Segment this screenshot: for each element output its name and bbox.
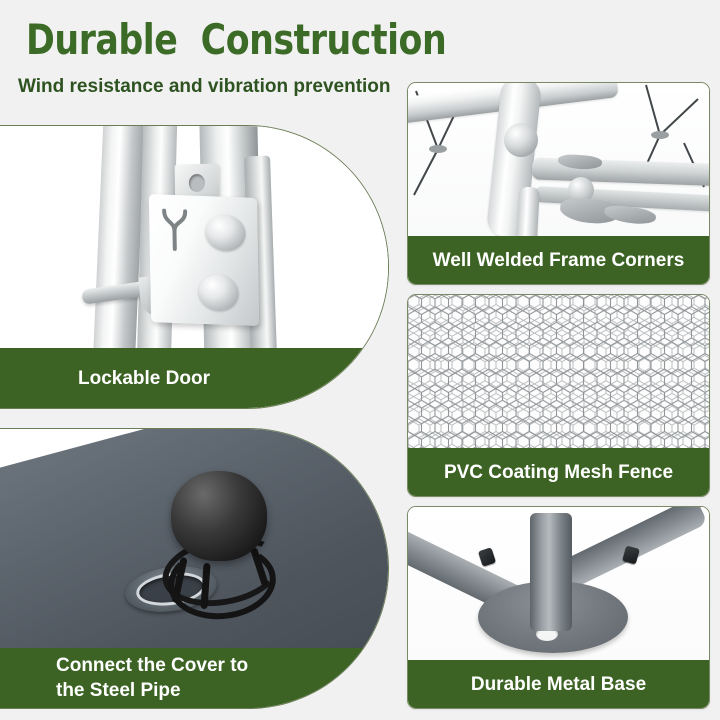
page-subtitle: Wind resistance and vibration prevention <box>18 75 391 99</box>
panel-metal-base: Durable Metal Base <box>407 506 710 709</box>
panel-connect-cover: Connect the Cover to the Steel Pipe <box>0 428 389 709</box>
mesh-fence-label-bar: PVC Coating Mesh Fence <box>408 448 709 496</box>
vertical-pole <box>530 513 572 631</box>
lockable-door-label-bar: Lockable Door <box>0 348 388 408</box>
panel-lockable-door: Lockable Door <box>0 125 389 409</box>
mesh-scene <box>408 295 709 450</box>
panel-mesh-fence: PVC Coating Mesh Fence <box>407 294 710 497</box>
panel-frame-corners: Well Welded Frame Corners <box>407 82 710 285</box>
bungee-ball <box>171 471 267 561</box>
connect-cover-label-bar: Connect the Cover to the Steel Pipe <box>0 648 388 708</box>
bolt-right <box>622 545 640 564</box>
lockable-door-label: Lockable Door <box>78 366 210 391</box>
bracket-hole <box>189 174 205 192</box>
page-title: Durable Construction <box>26 16 446 64</box>
metal-base-label-bar: Durable Metal Base <box>408 660 709 708</box>
metal-base-label: Durable Metal Base <box>471 672 646 697</box>
hex-mesh-pattern <box>408 295 709 450</box>
rivet-bottom <box>198 274 239 311</box>
frame-corners-label: Well Welded Frame Corners <box>433 248 685 273</box>
connect-cover-label: Connect the Cover to the Steel Pipe <box>56 653 248 703</box>
frame-corners-label-bar: Well Welded Frame Corners <box>408 236 709 284</box>
hook-slot-icon <box>161 209 190 254</box>
infographic-canvas: Durable Construction Wind resistance and… <box>0 0 720 720</box>
rivet-top <box>205 214 246 251</box>
weld-ball-joint-main <box>504 123 538 157</box>
bolt-left <box>478 547 496 567</box>
mesh-fence-label: PVC Coating Mesh Fence <box>444 460 673 485</box>
lock-latch-plate <box>149 194 259 326</box>
